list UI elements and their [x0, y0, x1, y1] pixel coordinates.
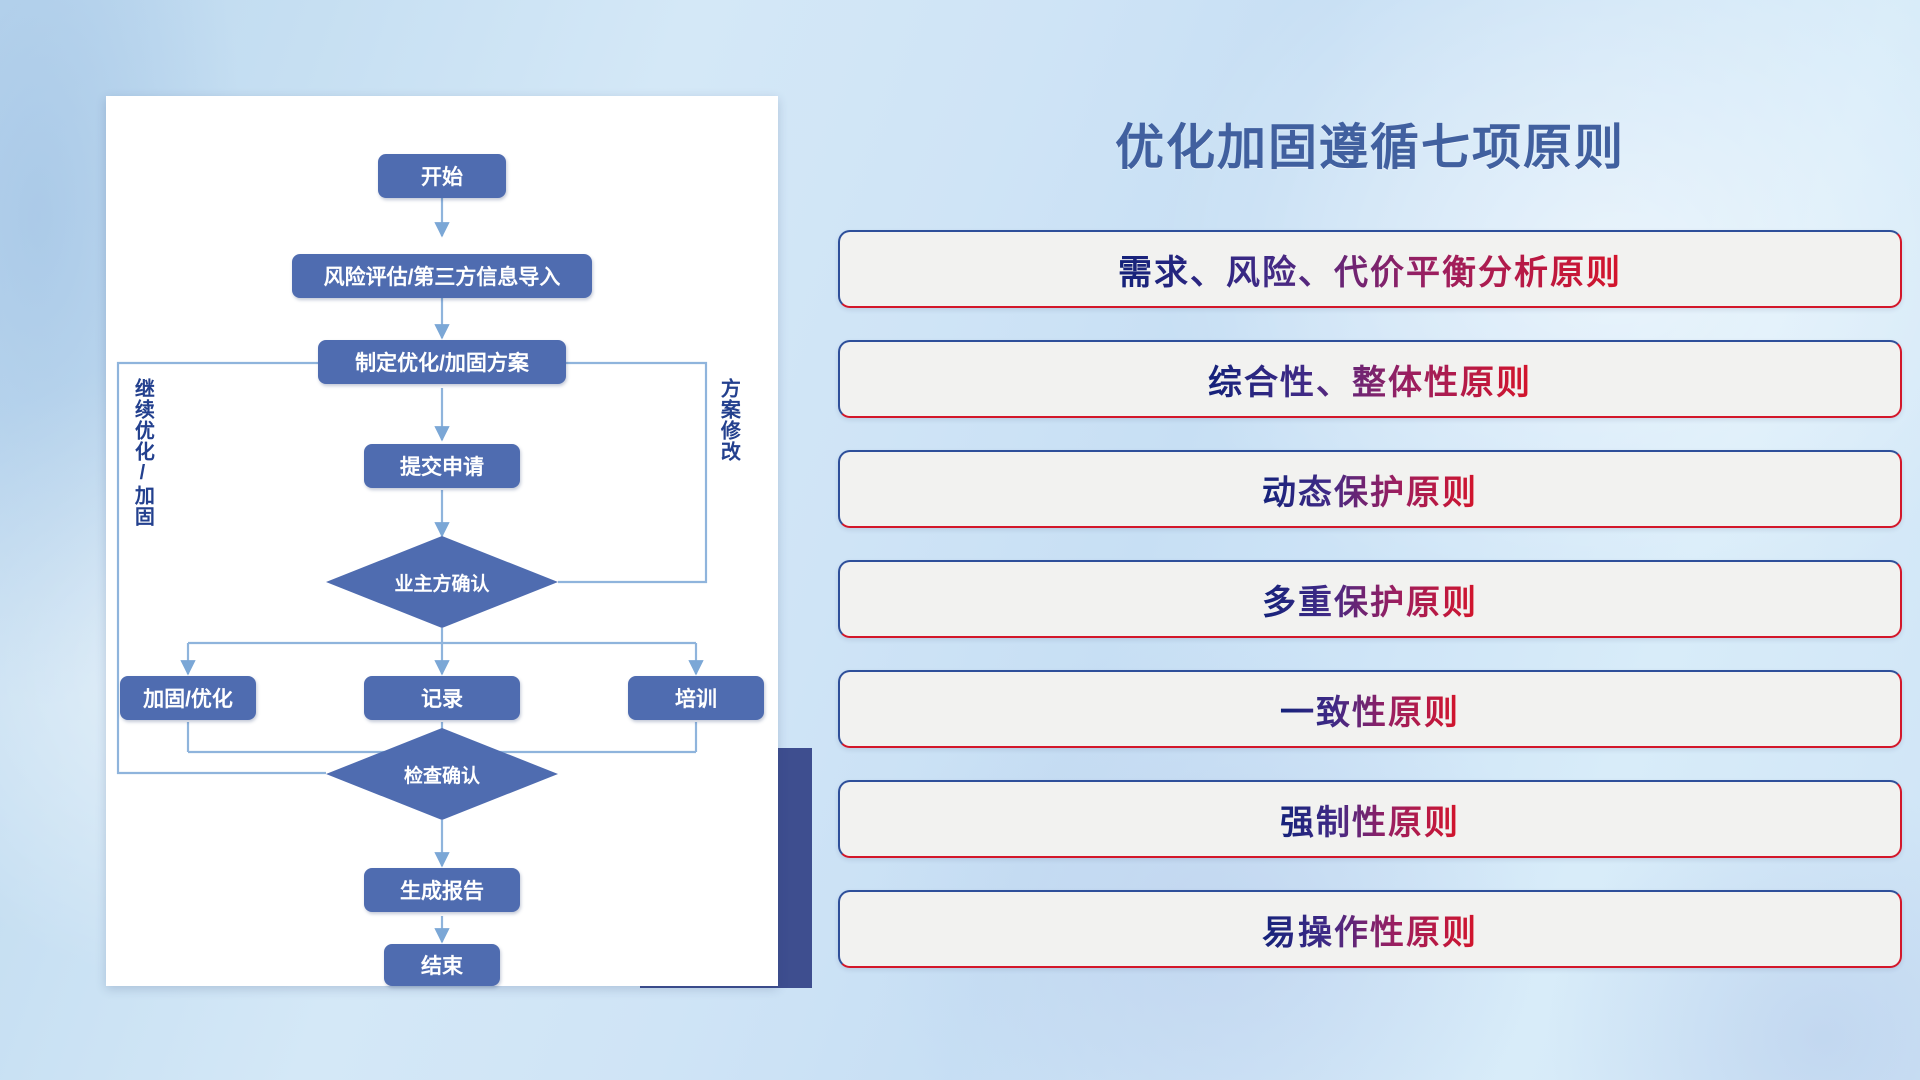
principle-label: 需求、风险、代价平衡分析原则: [1118, 245, 1622, 294]
principle-label: 多重保护原则: [1262, 575, 1478, 624]
principle-card[interactable]: 需求、风险、代价平衡分析原则: [838, 230, 1902, 308]
flow-node-reinforce[interactable]: 加固/优化: [120, 676, 256, 720]
flow-edge-label-plan-revision: 方案修改: [718, 378, 738, 462]
principle-card[interactable]: 综合性、整体性原则: [838, 340, 1902, 418]
flow-node-owner-confirm[interactable]: 业主方确认: [326, 536, 558, 628]
principles-title: 优化加固遵循七项原则: [820, 108, 1920, 179]
flow-node-record[interactable]: 记录: [364, 676, 520, 720]
flow-node-risk-assessment[interactable]: 风险评估/第三方信息导入: [292, 254, 592, 298]
principle-card[interactable]: 一致性原则: [838, 670, 1902, 748]
flowchart-panel: 开始 风险评估/第三方信息导入 制定优化/加固方案 提交申请 业主方确认 加固/…: [0, 0, 820, 1080]
flow-node-submit-application[interactable]: 提交申请: [364, 444, 520, 488]
flow-node-generate-report[interactable]: 生成报告: [364, 868, 520, 912]
principle-card[interactable]: 强制性原则: [838, 780, 1902, 858]
principle-card[interactable]: 易操作性原则: [838, 890, 1902, 968]
principle-label: 动态保护原则: [1262, 465, 1478, 514]
flow-node-end[interactable]: 结束: [384, 944, 500, 986]
flow-node-training[interactable]: 培训: [628, 676, 764, 720]
flow-node-inspect-confirm[interactable]: 检查确认: [326, 728, 558, 820]
principle-label: 易操作性原则: [1262, 905, 1478, 954]
principle-label: 综合性、整体性原则: [1208, 355, 1532, 404]
principle-card[interactable]: 动态保护原则: [838, 450, 1902, 528]
principle-label: 强制性原则: [1280, 795, 1460, 844]
flow-node-start[interactable]: 开始: [378, 154, 506, 198]
principle-label: 一致性原则: [1280, 685, 1460, 734]
principle-card[interactable]: 多重保护原则: [838, 560, 1902, 638]
principles-panel: 优化加固遵循七项原则 需求、风险、代价平衡分析原则 综合性、整体性原则 动态保护…: [820, 0, 1920, 1080]
flow-edge-label-continue-optimize: 继续优化/加固: [132, 378, 152, 527]
flowchart-card: 开始 风险评估/第三方信息导入 制定优化/加固方案 提交申请 业主方确认 加固/…: [106, 96, 778, 986]
flow-node-plan[interactable]: 制定优化/加固方案: [318, 340, 566, 384]
principles-list: 需求、风险、代价平衡分析原则 综合性、整体性原则 动态保护原则 多重保护原则 一…: [838, 230, 1902, 1000]
